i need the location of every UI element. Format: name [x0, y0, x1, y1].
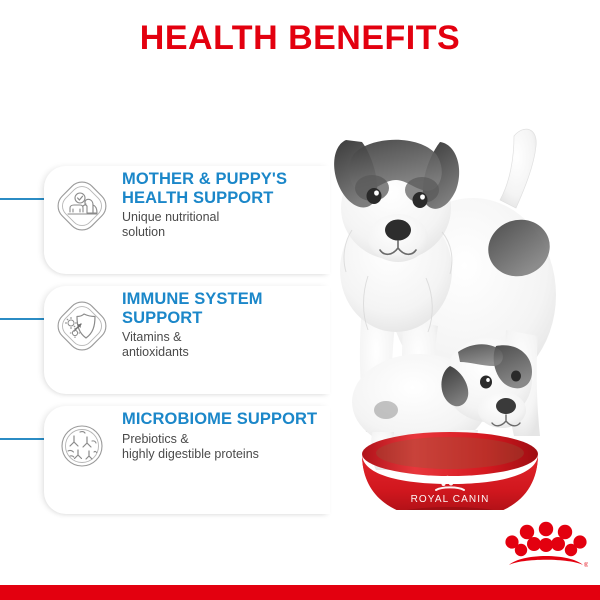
mother-puppy-icon: [56, 180, 108, 232]
connector-line: [0, 198, 46, 200]
benefit-card: MOTHER & PUPPY'S HEALTH SUPPORT Unique n…: [44, 166, 330, 274]
benefit-item-microbiome: MICROBIOME SUPPORT Prebiotics & highly d…: [0, 406, 330, 518]
shield-immunity-icon: [56, 300, 108, 352]
benefit-subtext: Unique nutritional solution: [122, 210, 327, 240]
page-title: HEALTH BENEFITS: [0, 18, 600, 58]
benefit-item-mother-puppy: MOTHER & PUPPY'S HEALTH SUPPORT Unique n…: [0, 166, 330, 278]
benefit-subtext: Prebiotics & highly digestible proteins: [122, 432, 327, 462]
benefit-text: MICROBIOME SUPPORT Prebiotics & highly d…: [122, 410, 327, 462]
benefit-heading: MOTHER & PUPPY'S HEALTH SUPPORT: [122, 170, 327, 207]
connector-line: [0, 318, 46, 320]
benefit-text: MOTHER & PUPPY'S HEALTH SUPPORT Unique n…: [122, 170, 327, 240]
benefit-heading: MICROBIOME SUPPORT: [122, 410, 327, 429]
bottom-accent-bar: [0, 585, 600, 600]
svg-text:ROYAL CANIN: ROYAL CANIN: [411, 494, 490, 505]
connector-line: [0, 438, 46, 440]
product-photo: ROYAL CANIN: [300, 80, 600, 510]
benefit-item-immune-system: IMMUNE SYSTEM SUPPORT Vitamins & antioxi…: [0, 286, 330, 398]
health-benefits-page: HEALTH BENEFITS: [0, 0, 600, 600]
bowl-crown-icon: [436, 476, 464, 490]
microbiome-icon: [56, 420, 108, 472]
royal-canin-crown-logo: ®: [504, 520, 588, 572]
benefit-heading: IMMUNE SYSTEM SUPPORT: [122, 290, 327, 327]
svg-text:®: ®: [584, 562, 588, 569]
benefit-card: IMMUNE SYSTEM SUPPORT Vitamins & antioxi…: [44, 286, 330, 394]
benefit-card: MICROBIOME SUPPORT Prebiotics & highly d…: [44, 406, 330, 514]
benefit-text: IMMUNE SYSTEM SUPPORT Vitamins & antioxi…: [122, 290, 327, 360]
benefit-subtext: Vitamins & antioxidants: [122, 330, 327, 360]
